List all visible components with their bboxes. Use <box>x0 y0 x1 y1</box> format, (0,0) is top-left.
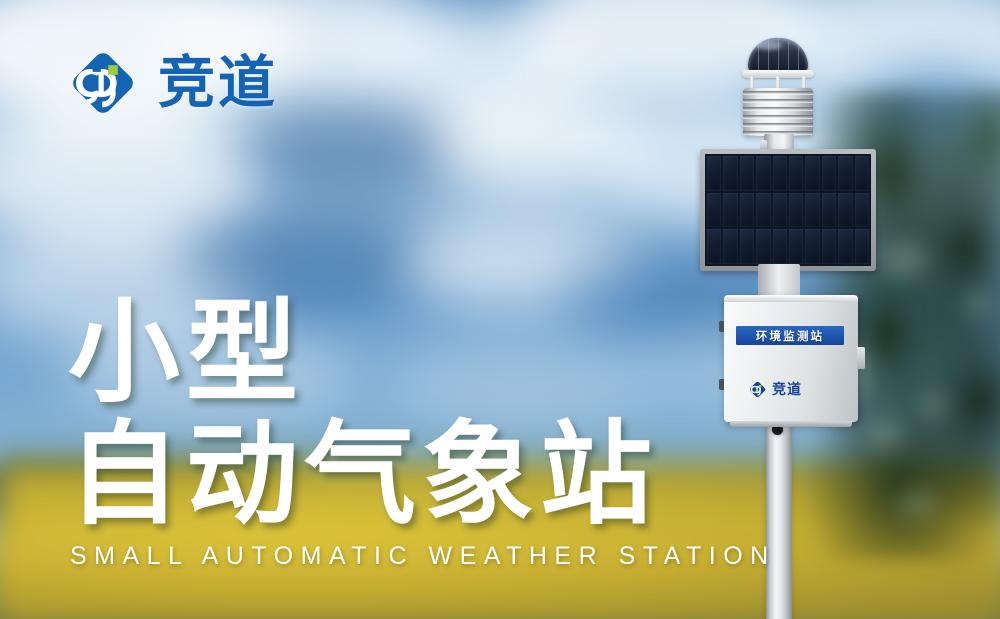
headline-subtitle: SMALL AUTOMATIC WEATHER STATION <box>70 542 776 571</box>
solar-cell <box>773 193 787 228</box>
product-banner: 竞道 小型 自动气象站 SMALL AUTOMATIC WEATHER STAT… <box>0 0 1000 619</box>
solar-cell <box>740 156 754 191</box>
solar-cell <box>855 229 869 264</box>
headline-line-2: 自动气象站 <box>68 418 658 532</box>
solar-cell <box>789 229 803 264</box>
solar-cell <box>756 156 770 191</box>
control-box-brand: 竞道 <box>748 379 802 399</box>
solar-cell <box>707 193 721 228</box>
control-box-base <box>730 421 852 427</box>
solar-cell <box>773 229 787 264</box>
solar-cell <box>822 229 836 264</box>
solar-cell <box>822 193 836 228</box>
solar-cell <box>723 156 737 191</box>
solar-cell <box>838 156 852 191</box>
radiation-shield <box>743 88 813 136</box>
headline-line-1: 小型 <box>68 296 658 410</box>
solar-cell <box>740 229 754 264</box>
brand-logo[interactable]: 竞道 <box>66 46 278 120</box>
weather-station-product: 环境监测站 竞道 <box>660 20 960 619</box>
solar-cell <box>805 156 819 191</box>
solar-cell <box>756 193 770 228</box>
jingdao-diamond-logo-icon <box>748 380 767 399</box>
jingdao-diamond-logo-icon <box>66 46 140 120</box>
solar-cell <box>805 229 819 264</box>
solar-cell <box>805 193 819 228</box>
solar-cell <box>855 193 869 228</box>
solar-cell <box>723 229 737 264</box>
control-box-banner: 环境监测站 <box>736 326 844 345</box>
ultrasonic-weather-sensor-icon <box>730 38 828 148</box>
control-box-lid <box>724 295 858 302</box>
solar-panel-icon <box>700 149 876 271</box>
solar-cell <box>723 193 737 228</box>
solar-cell <box>789 156 803 191</box>
solar-cell <box>740 193 754 228</box>
panel-mount-bracket <box>758 264 800 298</box>
solar-cell-grid <box>705 154 871 266</box>
control-box-logo-text: 竞道 <box>772 379 802 399</box>
solar-cell <box>756 229 770 264</box>
sensor-dome <box>748 38 808 72</box>
control-box-hinge-bottom <box>719 379 724 390</box>
solar-cell <box>838 229 852 264</box>
solar-cell <box>707 156 721 191</box>
solar-cell <box>822 156 836 191</box>
control-box: 环境监测站 竞道 <box>724 295 858 422</box>
headline-block: 小型 自动气象站 <box>68 296 658 532</box>
solar-cell <box>789 193 803 228</box>
control-box-latch <box>857 347 865 369</box>
control-box-banner-text: 环境监测站 <box>756 328 825 344</box>
brand-name: 竞道 <box>158 55 278 112</box>
control-box-hinge-top <box>719 321 724 332</box>
solar-cell <box>707 229 721 264</box>
solar-cell <box>773 156 787 191</box>
solar-cell <box>855 156 869 191</box>
solar-cell <box>838 193 852 228</box>
